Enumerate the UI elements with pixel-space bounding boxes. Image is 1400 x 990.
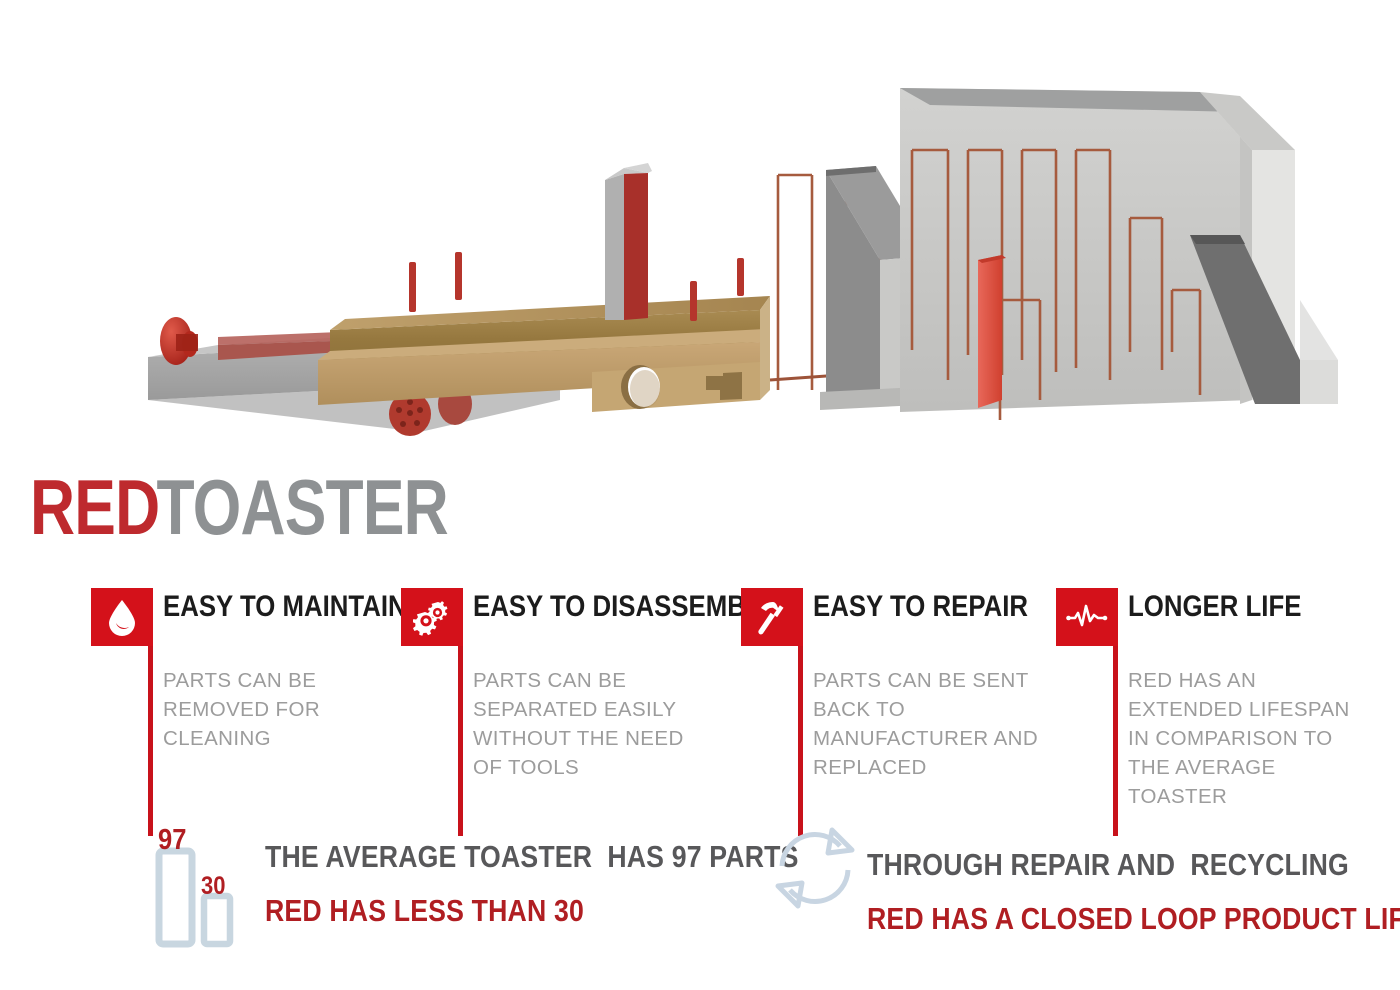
product-render-image	[0, 0, 1400, 460]
feature-body: PARTS CAN BE SENT BACK TO MANUFACTURER A…	[813, 666, 1068, 782]
flag-pole	[1113, 646, 1118, 836]
droplet-icon	[105, 598, 139, 636]
parts-line-gray: THE AVERAGE TOASTER HAS 97 PARTS	[265, 830, 799, 884]
flag-banner	[91, 588, 153, 646]
flag-banner	[1056, 588, 1118, 646]
infographic-canvas: RED TOASTER EASY TO MAINTAIN PARTS CAN B…	[0, 0, 1400, 990]
feature-heading: EASY TO MAINTAIN	[163, 590, 407, 624]
flag-pole	[458, 646, 463, 836]
bar-average-toaster	[159, 851, 192, 944]
recycle-line-gray: THROUGH REPAIR AND RECYCLING	[867, 838, 1400, 892]
recycle-group: THROUGH REPAIR AND RECYCLING RED HAS A C…	[772, 820, 858, 921]
recycle-loop-icon	[772, 820, 858, 916]
flag-banner	[741, 588, 803, 646]
feature-easy-to-disassemble: EASY TO DISASSEMBLE PARTS CAN BE SEPARAT…	[401, 588, 721, 646]
title-word-gray: TOASTER	[140, 468, 448, 546]
recycle-stat-text: THROUGH REPAIR AND RECYCLING RED HAS A C…	[867, 838, 1400, 946]
hammer-icon	[753, 599, 791, 635]
feature-easy-to-maintain: EASY TO MAINTAIN PARTS CAN BE REMOVED FO…	[91, 588, 391, 646]
feature-body: PARTS CAN BE SEPARATED EASILY WITHOUT TH…	[473, 666, 688, 782]
recycle-line-red: RED HAS A CLOSED LOOP PRODUCT LIFE-CYCLE	[867, 892, 1400, 946]
lever	[605, 163, 652, 320]
feature-body: PARTS CAN BE REMOVED FOR CLEANING	[163, 666, 413, 753]
parts-line-red: RED HAS LESS THAN 30	[265, 884, 799, 938]
heartbeat-icon	[1064, 602, 1110, 632]
bar-label-97: 97	[158, 826, 186, 855]
bar-label-30: 30	[201, 872, 225, 901]
stats-row: 97 30 THE AVERAGE TOASTER HAS 97 PARTS R…	[0, 812, 1400, 972]
gears-icon	[413, 598, 451, 636]
feature-body: RED HAS AN EXTENDED LIFESPAN IN COMPARIS…	[1128, 666, 1358, 811]
toaster-housing	[900, 88, 1338, 412]
feature-flags: EASY TO MAINTAIN PARTS CAN BE REMOVED FO…	[0, 588, 1400, 803]
flag-pole	[148, 646, 153, 836]
page-title: RED TOASTER	[30, 468, 525, 534]
feature-heading: LONGER LIFE	[1128, 590, 1301, 624]
bar-red	[204, 896, 230, 944]
red-panel	[978, 255, 1006, 408]
feature-heading: EASY TO DISASSEMBLE	[473, 590, 779, 624]
feature-heading: EASY TO REPAIR	[813, 590, 1028, 624]
feature-longer-life: LONGER LIFE RED HAS AN EXTENDED LIFESPAN…	[1056, 588, 1346, 646]
flag-pole	[798, 646, 803, 836]
flag-banner	[401, 588, 463, 646]
feature-easy-to-repair: EASY TO REPAIR PARTS CAN BE SENT BACK TO…	[741, 588, 1041, 646]
